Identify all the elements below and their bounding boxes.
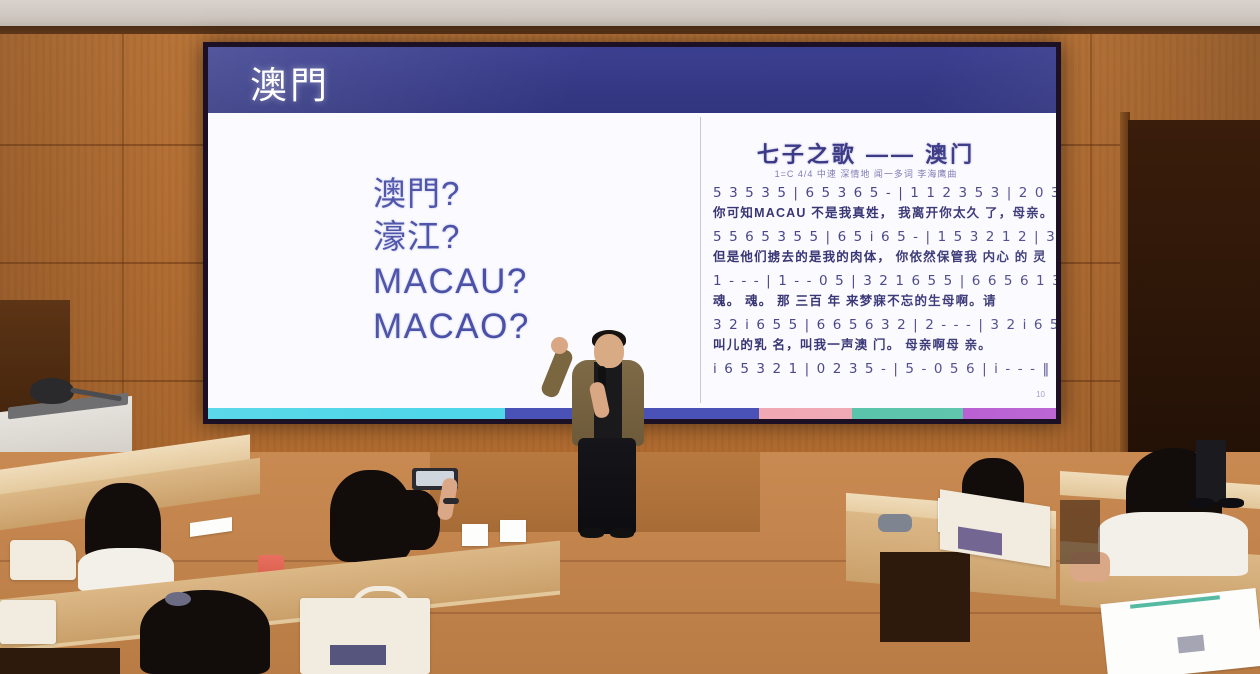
wristwatch: [443, 498, 459, 504]
staff-line: 5 3 5 3 5 | 6 5 3 6 5 - | 1 1 2 3 5 3 | …: [713, 185, 1045, 221]
question-item: 澳門?: [373, 173, 530, 216]
presenter-shoe: [610, 528, 634, 538]
staff-lyric: 叫儿的乳 名，叫我一声澳 门。 母亲啊母 亲。: [713, 334, 1045, 353]
accent-segment: [759, 408, 852, 419]
staff-notes: 3 2 i 6 5 5 | 6 6 5 6 3 2 | 2 - - - | 3 …: [713, 317, 1045, 333]
question-list: 澳門? 濠江? MACAU? MACAO?: [373, 173, 530, 350]
song-credits: 1=C 4/4 中速 深情地 闻一多词 李海鹰曲: [701, 167, 1031, 180]
staff-notes: 5 3 5 3 5 | 6 5 3 6 5 - | 1 1 2 3 5 3 | …: [713, 185, 1045, 201]
paper-figure: [1177, 635, 1205, 654]
student-body: [1098, 512, 1248, 576]
student-head: [140, 590, 270, 674]
score-page-number: 10: [1036, 390, 1045, 399]
staff-line: i 6 5 3 2 1 | 0 2 3 5 - | 5 - 0 5 6 | i …: [713, 361, 1045, 377]
accent-segment: [963, 408, 1056, 419]
staff-line: 3 2 i 6 5 5 | 6 6 5 6 3 2 | 2 - - - | 3 …: [713, 317, 1045, 353]
accent-segment: [208, 408, 505, 419]
accent-segment: [852, 408, 962, 419]
question-item: MACAO?: [373, 304, 530, 350]
standing-person-legs: [1196, 440, 1226, 502]
presenter-fist: [551, 337, 568, 354]
question-item: MACAU?: [373, 259, 530, 305]
desk-shadow: [0, 648, 120, 674]
tote-bag: [10, 540, 76, 580]
page-title: 澳門: [250, 55, 330, 109]
handout-paper: [500, 520, 526, 542]
desk-shadow: [1060, 500, 1100, 564]
staff-lyric: 魂。 魂。 那 三百 年 来梦寐不忘的生母啊。请: [713, 290, 1045, 309]
staff-line: 5 5 6 5 3 5 5 | 6 5 i 6 5 - | 1 5 3 2 1 …: [713, 229, 1045, 265]
staff-notes: i 6 5 3 2 1 | 0 2 3 5 - | 5 - 0 5 6 | i …: [713, 361, 1045, 377]
wall-seam-vertical: [122, 34, 124, 454]
pencil-case: [878, 514, 912, 532]
question-item: 濠江?: [373, 216, 530, 259]
wall-seam-vertical: [1090, 34, 1092, 454]
hair-tie: [165, 592, 191, 606]
lecture-hall-photo: 澳門 澳門? 濠江? MACAU? MACAO? 七子之歌 —— 澳门 1=C …: [0, 0, 1260, 674]
podium-microphone: [30, 378, 74, 404]
presenter-shoe: [580, 528, 604, 538]
song-title: 七子之歌 —— 澳门: [701, 137, 1031, 169]
slide-title-bar: 澳門: [208, 47, 1056, 113]
presenter-trousers: [578, 438, 636, 534]
shoe: [1188, 498, 1214, 508]
student-hair-side: [398, 490, 440, 550]
doorway-recess: [1128, 120, 1260, 460]
tote-bag-print: [330, 645, 386, 665]
handout-paper: [462, 524, 488, 546]
desk-shadow: [880, 552, 970, 642]
sheet-music: 七子之歌 —— 澳门 1=C 4/4 中速 深情地 闻一多词 李海鹰曲 5 3 …: [700, 117, 1053, 403]
staff-notes: 5 5 6 5 3 5 5 | 6 5 i 6 5 - | 1 5 3 2 1 …: [713, 229, 1045, 245]
staff-lyric: 但是他们掳去的是我的肉体， 你依然保管我 内心 的 灵: [713, 246, 1045, 265]
staff-line: 1 - - - | 1 - - 0 5 | 3 2 1 6 5 5 | 6 6 …: [713, 273, 1045, 309]
tote-bag: [0, 600, 56, 644]
presenter-head: [594, 334, 624, 368]
shoe: [1218, 498, 1244, 508]
staff-notes: 1 - - - | 1 - - 0 5 | 3 2 1 6 5 5 | 6 6 …: [713, 273, 1045, 289]
staff-lyric: 你可知MACAU 不是我真姓， 我离开你太久 了，母亲。: [713, 202, 1045, 221]
